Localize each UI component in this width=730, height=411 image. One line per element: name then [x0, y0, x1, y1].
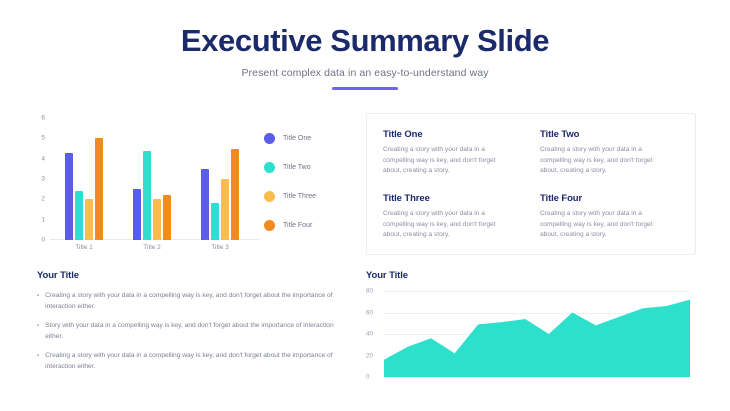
summary-card: Title TwoCreating a story with your data…: [540, 129, 679, 180]
bar-chart-x-tick: Title 2: [129, 244, 175, 251]
legend-item-label: Title Four: [283, 222, 312, 229]
title-divider: [332, 87, 398, 90]
summary-card-grid: Title OneCreating a story with your data…: [383, 129, 679, 244]
bullet-list: ▪Creating a story with your data in a co…: [37, 291, 347, 372]
legend-item-label: Title Two: [283, 164, 311, 171]
area-chart-section: Your Title 806040200: [366, 270, 696, 383]
summary-card-body: Creating a story with your data in a com…: [540, 145, 668, 177]
legend-color-swatch-icon: [264, 191, 275, 202]
bar-chart-y-tick: 6: [41, 115, 45, 122]
legend-item[interactable]: Title One: [264, 124, 354, 153]
list-item-text: Story with your data in a compelling way…: [45, 321, 347, 342]
area-chart-y-tick: 60: [366, 309, 373, 316]
summary-card-title: Title One: [383, 129, 522, 140]
bar[interactable]: [201, 169, 209, 240]
bar[interactable]: [211, 203, 219, 240]
list-item-text: Creating a story with your data in a com…: [45, 351, 347, 372]
bar-chart-y-tick: 5: [41, 135, 45, 142]
bar-chart-y-tick: 3: [41, 176, 45, 183]
bar-chart-y-tick: 1: [41, 216, 45, 223]
area-chart-y-tick: 80: [366, 288, 373, 295]
bar[interactable]: [231, 149, 239, 241]
bar-chart-x-tick: Title 1: [61, 244, 107, 251]
bar[interactable]: [95, 138, 103, 240]
bar-group: [65, 118, 103, 240]
bar-chart-y-tick: 4: [41, 155, 45, 162]
top-row: 6543210 Title 1Title 2Title 3 Title OneT…: [0, 112, 730, 264]
area-chart-svg: [384, 291, 690, 377]
bar-chart-y-tick: 0: [41, 237, 45, 244]
legend-color-swatch-icon: [264, 162, 275, 173]
bar[interactable]: [153, 199, 161, 240]
page-title: Executive Summary Slide: [0, 24, 730, 58]
summary-card: Title FourCreating a story with your dat…: [540, 193, 679, 244]
summary-card: Title OneCreating a story with your data…: [383, 129, 522, 180]
bullet-marker-icon: ▪: [37, 351, 39, 372]
bar[interactable]: [75, 191, 83, 240]
summary-card-title: Title Two: [540, 129, 679, 140]
legend-color-swatch-icon: [264, 133, 275, 144]
summary-card-body: Creating a story with your data in a com…: [540, 209, 668, 241]
bar-chart-y-tick: 2: [41, 196, 45, 203]
bar-group: [133, 118, 171, 240]
list-item-text: Creating a story with your data in a com…: [45, 291, 347, 312]
bottom-row: Your Title ▪Creating a story with your d…: [0, 270, 730, 411]
bar-group: [201, 118, 239, 240]
legend-item-label: Title Three: [283, 193, 316, 200]
bar[interactable]: [143, 151, 151, 240]
legend-item[interactable]: Title Four: [264, 211, 354, 240]
list-item: ▪Creating a story with your data in a co…: [37, 291, 347, 312]
summary-card-body: Creating a story with your data in a com…: [383, 145, 511, 177]
bar-chart-legend: Title OneTitle TwoTitle ThreeTitle Four: [264, 124, 354, 240]
legend-item[interactable]: Title Three: [264, 182, 354, 211]
bullets-section: Your Title ▪Creating a story with your d…: [37, 270, 347, 381]
summary-card: Title ThreeCreating a story with your da…: [383, 193, 522, 244]
legend-item-label: Title One: [283, 135, 311, 142]
area-chart-title: Your Title: [366, 270, 696, 281]
page-subtitle: Present complex data in an easy-to-under…: [0, 67, 730, 79]
slide-content: 6543210 Title 1Title 2Title 3 Title OneT…: [0, 112, 730, 411]
bar[interactable]: [65, 153, 73, 240]
bar-chart-plot: 6543210: [50, 118, 254, 240]
area-chart-y-tick: 0: [366, 374, 369, 381]
bar-chart-x-axis: Title 1Title 2Title 3: [50, 244, 254, 251]
legend-item[interactable]: Title Two: [264, 153, 354, 182]
area-chart-gridline: [384, 377, 690, 378]
bullet-marker-icon: ▪: [37, 321, 39, 342]
bar[interactable]: [221, 179, 229, 240]
slide-header: Executive Summary Slide Present complex …: [0, 0, 730, 90]
list-item: ▪Creating a story with your data in a co…: [37, 351, 347, 372]
summary-card-title: Title Four: [540, 193, 679, 204]
legend-color-swatch-icon: [264, 220, 275, 231]
list-item: ▪Story with your data in a compelling wa…: [37, 321, 347, 342]
summary-card-body: Creating a story with your data in a com…: [383, 209, 511, 241]
area-chart-y-tick: 20: [366, 352, 373, 359]
bar-chart: 6543210 Title 1Title 2Title 3 Title OneT…: [32, 112, 352, 257]
summary-card-title: Title Three: [383, 193, 522, 204]
bar[interactable]: [163, 195, 171, 240]
bullets-section-title: Your Title: [37, 270, 347, 281]
area-chart-y-tick: 40: [366, 331, 373, 338]
bar-chart-groups: [50, 118, 254, 240]
bullet-marker-icon: ▪: [37, 291, 39, 312]
bar[interactable]: [85, 199, 93, 240]
area-chart-plot: 806040200: [366, 291, 696, 383]
summary-card-panel: Title OneCreating a story with your data…: [366, 113, 696, 255]
bar[interactable]: [133, 189, 141, 240]
bar-chart-x-tick: Title 3: [197, 244, 243, 251]
area-chart-fill: [384, 300, 690, 377]
